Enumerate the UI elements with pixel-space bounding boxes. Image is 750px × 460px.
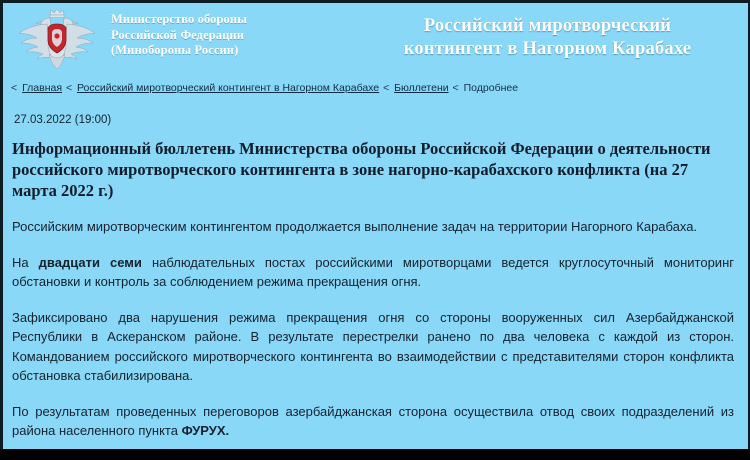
- article: 27.03.2022 (19:00) Информационный бюллет…: [3, 104, 747, 441]
- paragraph-2-emphasis-posts-count: двадцати семи: [39, 255, 142, 270]
- breadcrumb-link-contingent[interactable]: Российский миротворческий контингент в Н…: [77, 82, 379, 94]
- site-header: Министерство обороны Российской Федераци…: [3, 3, 748, 75]
- paragraph-4-emphasis-settlement: ФУРУХ.: [182, 423, 230, 438]
- ministry-name-block: Министерство обороны Российской Федераци…: [111, 3, 361, 59]
- article-paragraph-4: По результатам проведенных переговоров а…: [12, 402, 738, 441]
- breadcrumb: < Главная < Российский миротворческий ко…: [10, 82, 744, 95]
- breadcrumb-separator-2: <: [66, 82, 72, 94]
- breadcrumb-separator-1: <: [11, 82, 17, 94]
- section-title-line-2: контингент в Нагорном Карабахе: [361, 38, 734, 61]
- section-title-line-1: Российский миротворческий: [361, 15, 734, 38]
- article-paragraph-2: На двадцати семи наблюдательных постах р…: [12, 253, 738, 292]
- section-title: Российский миротворческий контингент в Н…: [361, 3, 748, 61]
- ministry-name-line-2: Российской Федерации: [111, 28, 361, 44]
- ministry-emblem: [3, 3, 111, 73]
- frame-bottom-edge: [0, 449, 750, 460]
- article-headline: Информационный бюллетень Министерства об…: [12, 138, 738, 201]
- article-body: Российским миротворческим контингентом п…: [12, 217, 738, 441]
- article-paragraph-1: Российским миротворческим контингентом п…: [12, 217, 738, 237]
- ministry-name-line-3: (Минобороны России): [111, 43, 361, 59]
- article-paragraph-3: Зафиксировано два нарушения режима прекр…: [12, 308, 738, 386]
- breadcrumb-link-home[interactable]: Главная: [22, 82, 62, 94]
- paragraph-2-text-before: На: [12, 255, 39, 270]
- publication-date: 27.03.2022 (19:00): [12, 104, 738, 138]
- ministry-name-line-1: Министерство обороны: [111, 12, 361, 28]
- breadcrumb-current-details: Подробнее: [464, 82, 518, 94]
- breadcrumb-link-bulletins[interactable]: Бюллетени: [394, 82, 448, 94]
- breadcrumb-separator-3: <: [383, 82, 389, 94]
- breadcrumb-separator-4: <: [453, 82, 459, 94]
- paragraph-4-text-before: По результатам проведенных переговоров а…: [12, 404, 734, 439]
- double-headed-eagle-icon: [11, 6, 103, 70]
- page-root: Министерство обороны Российской Федераци…: [0, 0, 750, 460]
